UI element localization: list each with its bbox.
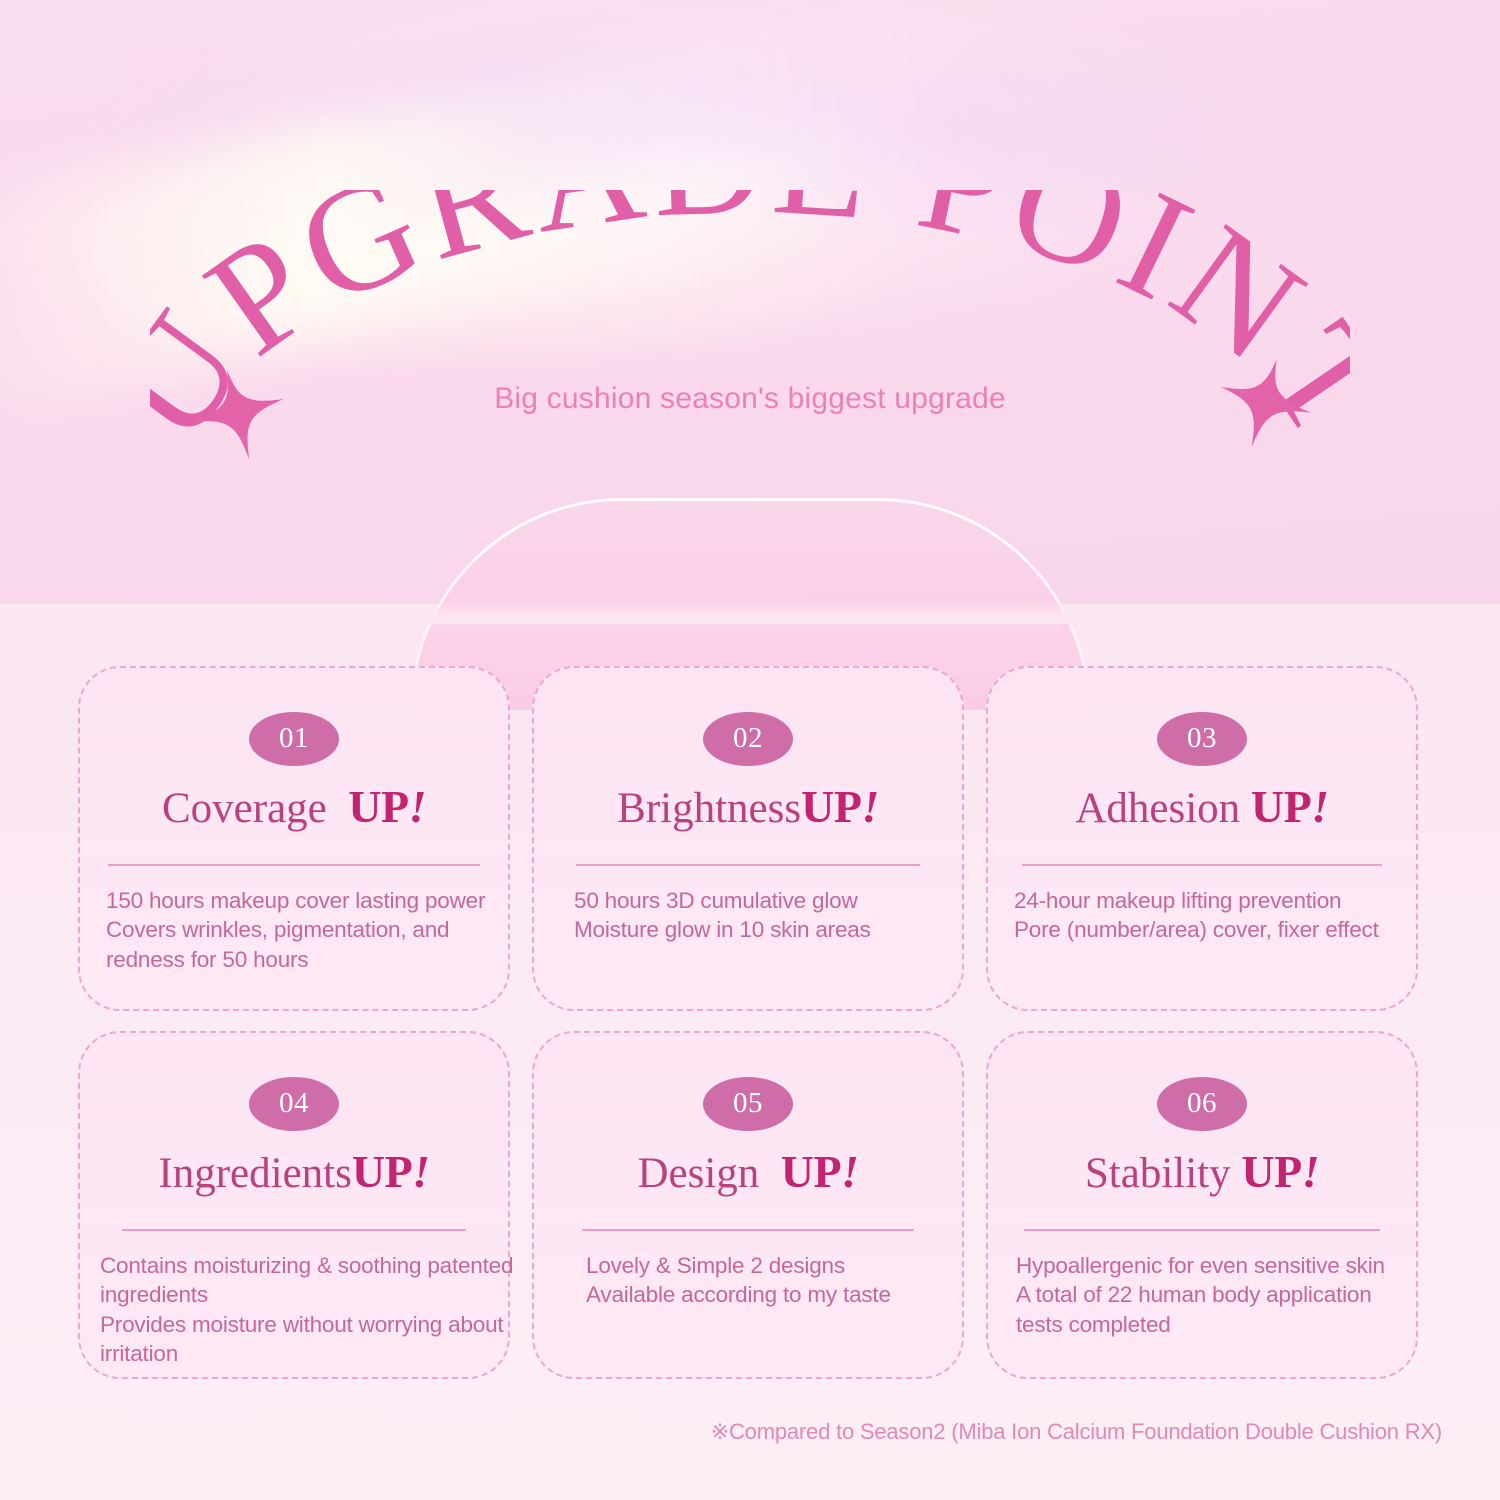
card-body-line: A total of 22 human body application (1016, 1280, 1410, 1309)
card-title-lead: Design (637, 1150, 759, 1197)
upgrade-card-stability[interactable]: 06 Stability UP! Hypoallergenic for even… (986, 1031, 1418, 1379)
upgrade-card-brightness[interactable]: 02 BrightnessUP! 50 hours 3D cumulative … (532, 666, 964, 1011)
card-title-up: UP (352, 1146, 412, 1197)
header: UPGRADE POINT Big cushion season's bigge… (0, 0, 1500, 470)
upgrade-point-infographic: UPGRADE POINT Big cushion season's bigge… (0, 0, 1500, 1500)
card-title-exclamation: ! (1311, 781, 1328, 832)
card-body-line: Pore (number/area) cover, fixer effect (1014, 915, 1398, 944)
card-title-exclamation: ! (1302, 1146, 1319, 1197)
card-title-exclamation: ! (841, 1146, 858, 1197)
card-title-lead: Brightness (617, 785, 801, 832)
card-title-up: UP (801, 781, 861, 832)
card-body-line: irritation (100, 1339, 500, 1368)
card-body-line: Covers wrinkles, pigmentation, and (106, 915, 490, 944)
card-body-line: 50 hours 3D cumulative glow (574, 886, 944, 915)
card-number-badge: 03 (1157, 712, 1247, 766)
card-body-line: Lovely & Simple 2 designs (586, 1251, 944, 1280)
card-title-exclamation: ! (409, 781, 426, 832)
card-number: 04 (279, 1089, 309, 1120)
card-body-line: Hypoallergenic for even sensitive skin (1016, 1251, 1410, 1280)
card-title: IngredientsUP! (80, 1149, 508, 1195)
card-body-line: 150 hours makeup cover lasting power (106, 886, 490, 915)
page-subtitle: Big cushion season's biggest upgrade (0, 382, 1500, 416)
card-title-lead: Coverage (162, 785, 327, 832)
upgrade-card-coverage[interactable]: 01 Coverage UP! 150 hours makeup cover l… (78, 666, 510, 1011)
card-body-line: ingredients (100, 1280, 500, 1309)
card-body: Lovely & Simple 2 designs Available acco… (586, 1251, 944, 1310)
card-title: Adhesion UP! (988, 784, 1416, 830)
footnote: ※Compared to Season2 (Miba Ion Calcium F… (0, 1419, 1500, 1445)
card-title-lead: Stability (1085, 1150, 1231, 1197)
card-title: Stability UP! (988, 1149, 1416, 1195)
card-body: 150 hours makeup cover lasting power Cov… (106, 886, 490, 974)
card-title-up: UP (1251, 781, 1311, 832)
card-title-up: UP (781, 1146, 841, 1197)
card-title-up: UP (348, 781, 408, 832)
card-divider (1024, 1229, 1380, 1231)
card-body-line: Moisture glow in 10 skin areas (574, 915, 944, 944)
card-number: 06 (1187, 1089, 1217, 1120)
card-number-badge: 02 (703, 712, 793, 766)
sparkle-left-icon (186, 362, 294, 471)
card-number: 05 (733, 1089, 763, 1120)
card-number-badge: 04 (249, 1077, 339, 1131)
card-number-badge: 05 (703, 1077, 793, 1131)
card-number-badge: 01 (249, 712, 339, 766)
upgrade-card-adhesion[interactable]: 03 Adhesion UP! 24-hour makeup lifting p… (986, 666, 1418, 1011)
card-body: 24-hour makeup lifting prevention Pore (… (1014, 886, 1398, 945)
upgrade-card-ingredients[interactable]: 04 IngredientsUP! Contains moisturizing … (78, 1031, 510, 1379)
horizon-line (0, 604, 1500, 624)
card-divider (582, 1229, 914, 1231)
card-number: 03 (1187, 724, 1217, 755)
card-divider (576, 864, 920, 866)
card-body-line: Contains moisturizing & soothing patente… (100, 1251, 500, 1280)
card-number: 01 (279, 724, 309, 755)
card-title-lead: Adhesion (1075, 785, 1240, 832)
card-title-lead: Ingredients (158, 1150, 351, 1197)
card-title: BrightnessUP! (534, 784, 962, 830)
card-title: Coverage UP! (80, 784, 508, 830)
card-number: 02 (733, 724, 763, 755)
card-divider (1022, 864, 1382, 866)
card-body: Contains moisturizing & soothing patente… (100, 1251, 500, 1368)
card-title-exclamation: ! (412, 1146, 429, 1197)
card-title: Design UP! (534, 1149, 962, 1195)
card-body-line: Available according to my taste (586, 1280, 944, 1309)
card-body-line: 24-hour makeup lifting prevention (1014, 886, 1398, 915)
card-number-badge: 06 (1157, 1077, 1247, 1131)
card-body-line: redness for 50 hours (106, 945, 490, 974)
upgrade-card-design[interactable]: 05 Design UP! Lovely & Simple 2 designs … (532, 1031, 964, 1379)
upgrade-point-card-grid: 01 Coverage UP! 150 hours makeup cover l… (78, 666, 1438, 1379)
card-body: Hypoallergenic for even sensitive skin A… (1016, 1251, 1410, 1339)
card-body: 50 hours 3D cumulative glow Moisture glo… (574, 886, 944, 945)
card-title-exclamation: ! (861, 781, 878, 832)
card-divider (122, 1229, 466, 1231)
card-divider (108, 864, 480, 866)
card-body-line: Provides moisture without worrying about (100, 1310, 500, 1339)
card-body-line: tests completed (1016, 1310, 1410, 1339)
card-title-up: UP (1241, 1146, 1301, 1197)
